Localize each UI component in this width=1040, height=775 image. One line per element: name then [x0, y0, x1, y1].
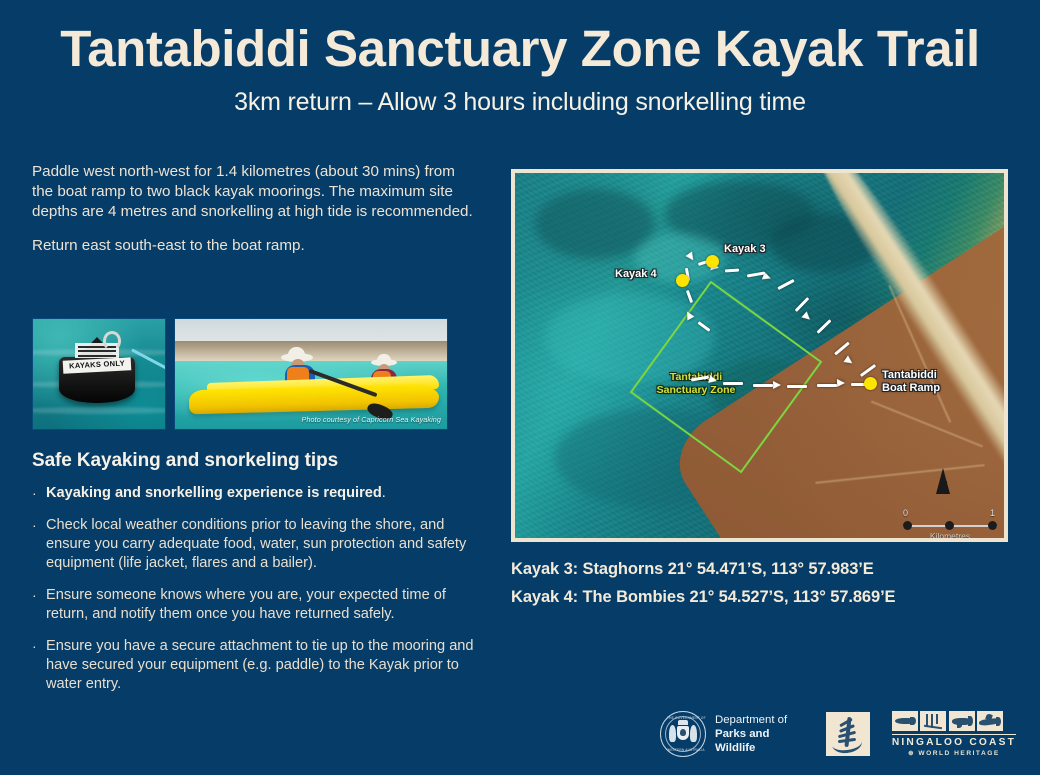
tip-item: · Ensure someone knows where you are, yo… [32, 586, 484, 624]
photo-strip: KAYAKS ONLY [32, 318, 448, 430]
marker-label-kayak-4: Kayak 4 [615, 268, 657, 281]
tip-item: · Kayaking and snorkelling experience is… [32, 484, 484, 503]
photo-sea-kayakers: Photo courtesy of Capricorn Sea Kayaking [174, 318, 448, 430]
intro-paragraph-1: Paddle west north-west for 1.4 kilometre… [32, 162, 474, 223]
photo-mooring-buoy: KAYAKS ONLY [32, 318, 166, 430]
intro-paragraph-2: Return east south-east to the boat ramp. [32, 236, 474, 256]
coordinate-line-kayak-3: Kayak 3: Staghorns 21° 54.471’S, 113° 57… [511, 560, 1011, 579]
scale-caption: Kilometres [903, 531, 997, 541]
marker-label-kayak-3: Kayak 3 [724, 243, 766, 256]
coordinates-block: Kayak 3: Staghorns 21° 54.471’S, 113° 57… [511, 560, 1011, 616]
tip-text: Ensure someone knows where you are, your… [46, 586, 484, 624]
page-title: Tantabiddi Sanctuary Zone Kayak Trail [0, 0, 1040, 76]
tip-text-tail: . [382, 485, 386, 501]
crest-bottom-text: WESTERN AUSTRALIA [667, 748, 699, 752]
tip-item: · Check local weather conditions prior t… [32, 516, 484, 573]
bullet-icon: · [32, 516, 46, 573]
kayak-photo-shoreline [175, 341, 447, 363]
ningaloo-whale-shark-icon [949, 711, 975, 731]
tips-heading: Safe Kayaking and snorkeling tips [32, 450, 484, 472]
coordinate-line-kayak-4: Kayak 4: The Bombies 21° 54.527’S, 113° … [511, 588, 1011, 607]
bullet-icon: · [32, 586, 46, 624]
dpaw-line-1: Department of [715, 714, 787, 726]
tip-item: · Ensure you have a secure attachment to… [32, 637, 484, 694]
bullet-icon: · [32, 484, 46, 503]
bullet-icon: · [32, 637, 46, 694]
ningaloo-name: NINGALOO COAST [892, 734, 1016, 748]
logo-coral-emblem-icon [826, 712, 870, 756]
boat-ramp-label-line-1: Tantabiddi [882, 369, 937, 381]
scale-min-label: 0 [903, 508, 908, 518]
intro-block: Paddle west north-west for 1.4 kilometre… [32, 162, 474, 256]
marker-boat-ramp[interactable] [864, 377, 877, 390]
tip-text: Check local weather conditions prior to … [46, 516, 484, 573]
wa-government-crest-icon: THE GOVERNMENT OF WESTERN AUSTRALIA [660, 711, 706, 757]
poster-root: Tantabiddi Sanctuary Zone Kayak Trail 3k… [0, 0, 1040, 775]
header: Tantabiddi Sanctuary Zone Kayak Trail 3k… [0, 0, 1040, 140]
page-subtitle: 3km return – Allow 3 hours including sno… [0, 76, 1040, 117]
ningaloo-subtitle: ⊛ WORLD HERITAGE [892, 749, 1016, 757]
photo-credit: Photo courtesy of Capricorn Sea Kayaking [302, 415, 441, 424]
safety-tips-section: Safe Kayaking and snorkeling tips · Kaya… [32, 450, 484, 694]
ningaloo-fish-icon [892, 711, 918, 731]
trail-map[interactable]: Tantabiddi Sanctuary Zone Kayak 3 [511, 169, 1008, 542]
tip-text: Ensure you have a secure attachment to t… [46, 637, 484, 694]
scale-max-label: 1 [990, 508, 995, 518]
sanctuary-zone-label-line-2: Sanctuary Zone [657, 384, 736, 396]
logo-ningaloo-coast: NINGALOO COAST ⊛ WORLD HERITAGE [892, 711, 1016, 758]
tip-text: Kayaking and snorkelling experience is r… [46, 485, 382, 501]
buoy-shackle [103, 331, 121, 351]
boat-ramp-label-line-2: Boat Ramp [882, 382, 940, 394]
footer-logos: THE GOVERNMENT OF WESTERN AUSTRALIA Depa… [660, 703, 1016, 765]
ningaloo-shark-icon [977, 711, 1003, 731]
logo-parks-and-wildlife: THE GOVERNMENT OF WESTERN AUSTRALIA Depa… [660, 711, 804, 757]
ningaloo-cave-icon [920, 711, 946, 731]
marker-label-boat-ramp: Tantabiddi Boat Ramp [882, 369, 940, 395]
marker-kayak-4[interactable] [676, 274, 689, 287]
marker-kayak-3[interactable] [706, 255, 719, 268]
north-arrow-icon [936, 468, 950, 494]
dpaw-line-2: Parks and Wildlife [715, 727, 804, 756]
